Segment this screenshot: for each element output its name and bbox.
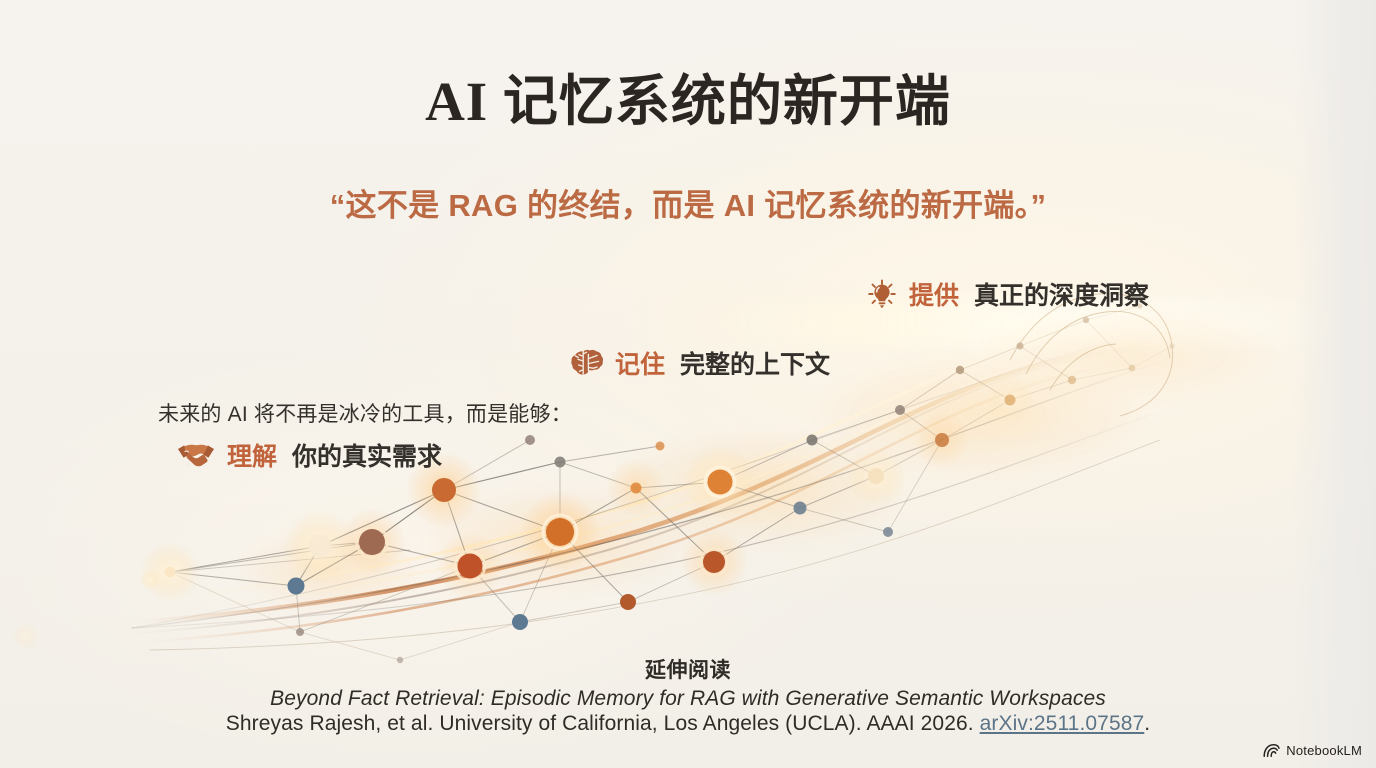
brain-icon xyxy=(570,348,604,378)
bullet-text: 完整的上下文 xyxy=(680,345,830,381)
bullet-text: 你的真实需求 xyxy=(292,437,442,473)
authors-prefix: Shreyas Rajesh, et al. University of Cal… xyxy=(226,712,980,735)
notebooklm-icon xyxy=(1263,743,1280,758)
authors-suffix: . xyxy=(1144,712,1150,735)
bullet-keyword: 理解 xyxy=(227,437,277,473)
bullet-understand-needs: 理解 你的真实需求 xyxy=(176,437,442,473)
slide-root: AI 记忆系统的新开端 “这不是 RAG 的终结，而是 AI 记忆系统的新开端。… xyxy=(0,0,1376,768)
paper-authors-line: Shreyas Rajesh, et al. University of Cal… xyxy=(0,712,1376,736)
lightbulb-icon xyxy=(866,278,898,310)
further-reading-block: 延伸阅读 Beyond Fact Retrieval: Episodic Mem… xyxy=(0,654,1376,736)
bullet-keyword: 提供 xyxy=(909,276,959,312)
paper-title: Beyond Fact Retrieval: Episodic Memory f… xyxy=(0,687,1376,711)
bullet-keyword: 记住 xyxy=(615,345,665,381)
arxiv-link[interactable]: arXiv:2511.07587 xyxy=(980,712,1145,735)
headline-quote: “这不是 RAG 的终结，而是 AI 记忆系统的新开端。” xyxy=(0,180,1376,225)
notebooklm-label: NotebookLM xyxy=(1286,743,1362,758)
bullet-text: 真正的深度洞察 xyxy=(974,276,1149,312)
handshake-icon xyxy=(176,440,216,470)
bullet-provide-insight: 提供 真正的深度洞察 xyxy=(866,276,1149,312)
further-reading-heading: 延伸阅读 xyxy=(0,654,1376,684)
lead-in-text: 未来的 AI 将不再是冰冷的工具，而是能够： xyxy=(158,398,572,428)
bullet-remember-context: 记住 完整的上下文 xyxy=(570,345,830,381)
notebooklm-brand: NotebookLM xyxy=(1263,743,1362,758)
slide-title: AI 记忆系统的新开端 xyxy=(0,56,1376,136)
